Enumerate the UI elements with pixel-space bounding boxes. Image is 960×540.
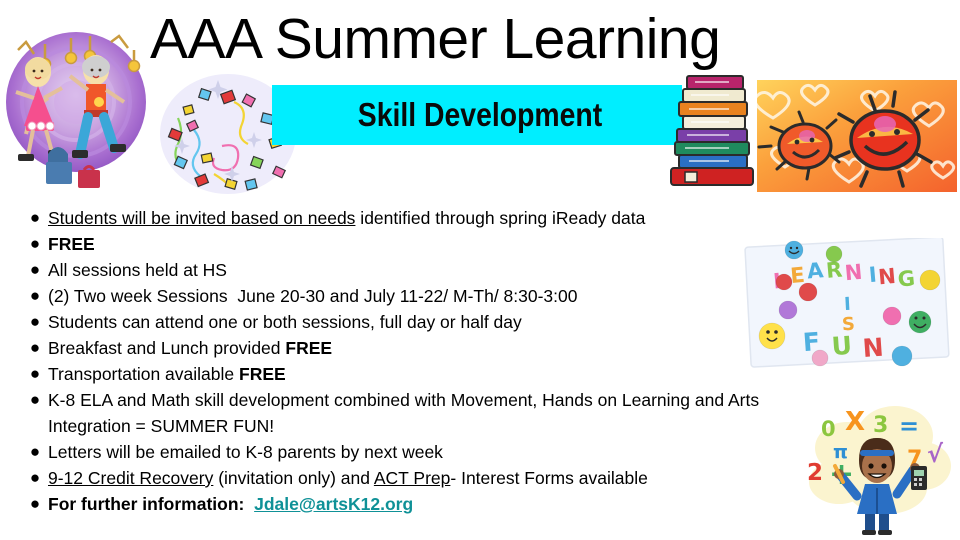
bullet-item: ●Students can attend one or both session… xyxy=(22,309,802,335)
bullet-text: Breakfast and Lunch provided FREE xyxy=(48,335,802,361)
bullet-item: ●Letters will be emailed to K-8 parents … xyxy=(22,439,802,465)
bullet-item: ●All sessions held at HS xyxy=(22,257,802,283)
plain-text: Letters will be emailed to K-8 parents b… xyxy=(48,442,443,462)
svg-text:N: N xyxy=(862,333,885,363)
bullet-marker-icon: ● xyxy=(22,335,48,361)
plain-text: (invitation only) and xyxy=(213,468,374,488)
bullet-marker-icon: ● xyxy=(22,257,48,283)
emphasis-text: For further information: xyxy=(48,494,254,514)
book-stack-image xyxy=(663,74,763,190)
svg-text:3: 3 xyxy=(873,413,888,438)
bullet-text: Transportation available FREE xyxy=(48,361,802,387)
banner-label: Skill Development xyxy=(351,96,609,134)
plain-text: identified through spring iReady data xyxy=(355,208,645,228)
plain-text: - Interest Forms available xyxy=(450,468,647,488)
plain-text: Breakfast and Lunch provided xyxy=(48,338,285,358)
svg-text:I: I xyxy=(844,294,852,315)
bullet-marker-icon: ● xyxy=(22,309,48,335)
bullet-marker-icon: ● xyxy=(22,439,48,465)
underlined-text: ACT Prep xyxy=(374,468,451,488)
bullet-marker-icon: ● xyxy=(22,491,48,517)
bullet-item: ●Breakfast and Lunch provided FREE xyxy=(22,335,802,361)
emphasis-text: FREE xyxy=(239,364,286,384)
bullet-text: All sessions held at HS xyxy=(48,257,802,283)
bullet-item: ●9-12 Credit Recovery (invitation only) … xyxy=(22,465,802,491)
bullet-marker-icon: ● xyxy=(22,387,48,413)
svg-text:U: U xyxy=(831,331,853,361)
plain-text: Students can attend one or both sessions… xyxy=(48,312,522,332)
emphasis-text: FREE xyxy=(285,338,332,358)
plain-text: K-8 ELA and Math skill development combi… xyxy=(48,390,764,436)
bullet-text: 9-12 Credit Recovery (invitation only) a… xyxy=(48,465,802,491)
bullet-text: Students will be invited based on needs … xyxy=(48,205,802,231)
plain-text: All sessions held at HS xyxy=(48,260,227,280)
bullet-list: ●Students will be invited based on needs… xyxy=(22,205,802,517)
bullet-marker-icon: ● xyxy=(22,465,48,491)
svg-text:G: G xyxy=(897,266,916,291)
bullet-text: K-8 ELA and Math skill development combi… xyxy=(48,387,802,439)
slide-canvas: Skill Development AAA Summer Learning xyxy=(0,0,960,540)
bullet-marker-icon: ● xyxy=(22,205,48,231)
bullet-text: For further information: Jdale@artsK12.o… xyxy=(48,491,802,517)
bullet-marker-icon: ● xyxy=(22,283,48,309)
bullet-item: ●FREE xyxy=(22,231,802,257)
svg-text:0: 0 xyxy=(821,417,836,441)
svg-text:X: X xyxy=(845,407,865,437)
plain-text: (2) Two week Sessions June 20-30 and Jul… xyxy=(48,286,578,306)
svg-text:√: √ xyxy=(927,440,944,468)
bullet-item: ●For further information: Jdale@artsK12.… xyxy=(22,491,802,517)
svg-text:N: N xyxy=(844,260,864,285)
svg-text:2: 2 xyxy=(807,460,823,486)
bullet-text: Students can attend one or both sessions… xyxy=(48,309,802,335)
bullet-text: (2) Two week Sessions June 20-30 and Jul… xyxy=(48,283,802,309)
underlined-text: 9-12 Credit Recovery xyxy=(48,468,213,488)
math-girl-image: 0 X 3 = π ÷ 7 √ 2 + xyxy=(795,388,957,536)
email-link[interactable]: Jdale@artsK12.org xyxy=(254,494,413,514)
dancing-girls-circle-image xyxy=(4,14,154,194)
svg-text:=: = xyxy=(899,412,919,440)
bullet-item: ●Transportation available FREE xyxy=(22,361,802,387)
svg-text:A: A xyxy=(806,258,825,283)
underlined-text: Students will be invited based on needs xyxy=(48,208,355,228)
bullet-item: ●(2) Two week Sessions June 20-30 and Ju… xyxy=(22,283,802,309)
plain-text: Transportation available xyxy=(48,364,239,384)
bullet-text: Letters will be emailed to K-8 parents b… xyxy=(48,439,802,465)
page-title: AAA Summer Learning xyxy=(150,6,720,72)
bullet-marker-icon: ● xyxy=(22,361,48,387)
svg-text:N: N xyxy=(877,264,897,289)
emphasis-text: FREE xyxy=(48,234,95,254)
bullet-item: ●Students will be invited based on needs… xyxy=(22,205,802,231)
bullet-marker-icon: ● xyxy=(22,231,48,257)
smiling-suns-image xyxy=(757,80,957,192)
bullet-text: FREE xyxy=(48,231,802,257)
bullet-item: ●K-8 ELA and Math skill development comb… xyxy=(22,387,802,439)
